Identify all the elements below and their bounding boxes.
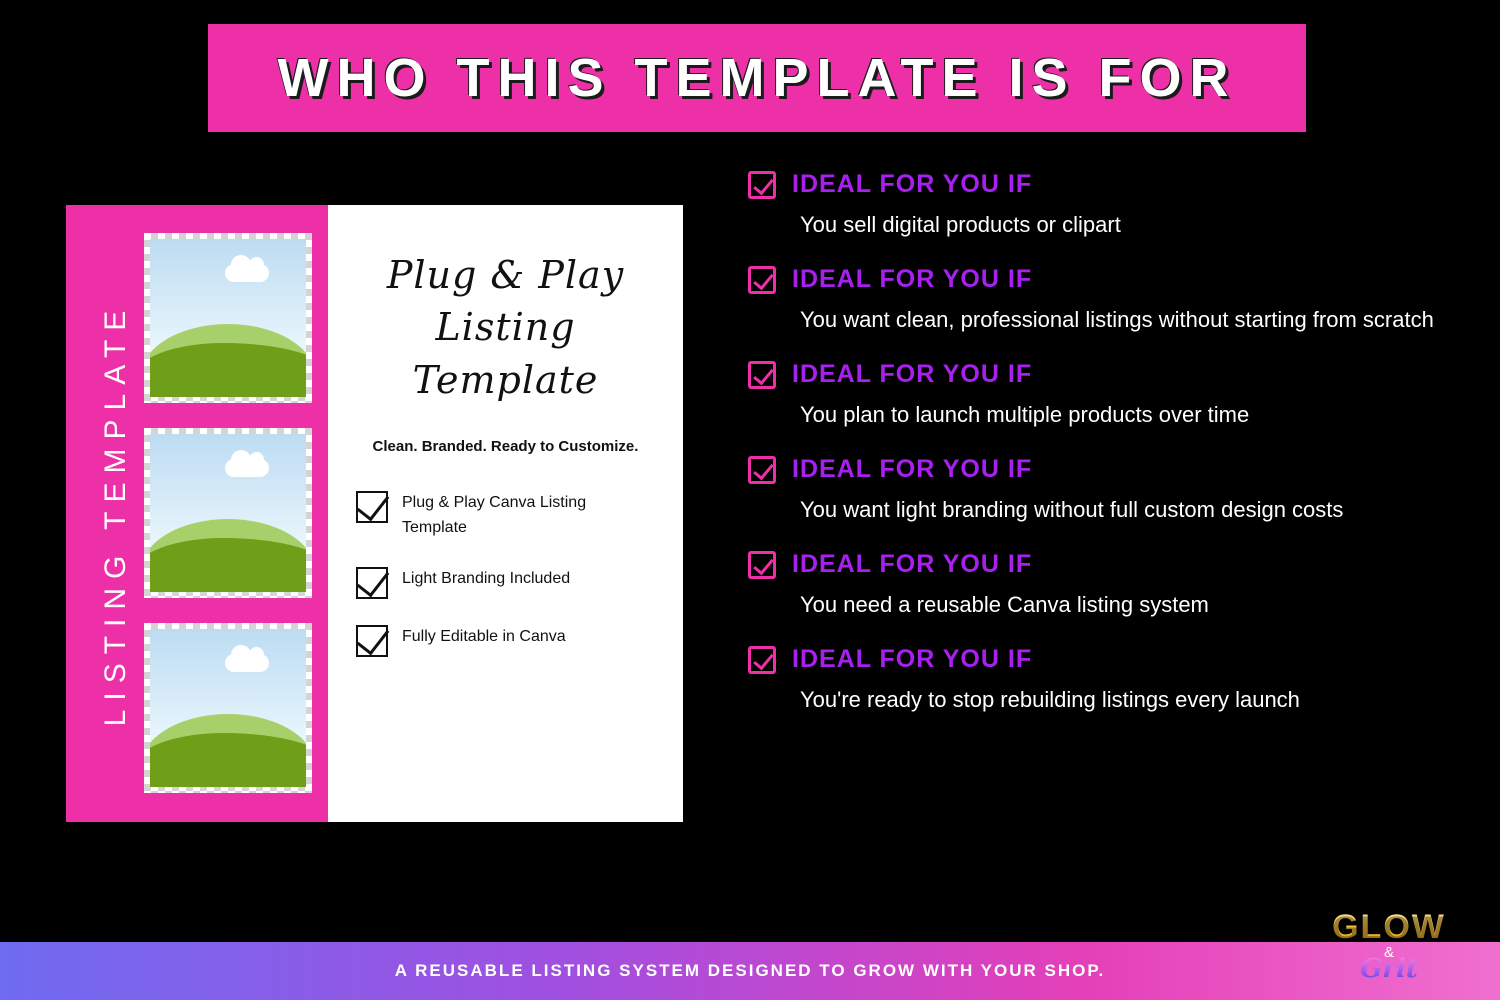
hill-front-shape <box>150 343 306 397</box>
logo-line-grit: Grit <box>1314 956 1464 982</box>
checkbox-check-icon <box>748 456 776 484</box>
list-item: IDEAL FOR YOU IF You plan to launch mult… <box>748 360 1448 431</box>
landscape-illustration <box>150 239 306 397</box>
landscape-illustration <box>150 434 306 592</box>
mockup-left-panel: LISTING TEMPLATE <box>66 205 328 822</box>
bullet-title: IDEAL FOR YOU IF <box>792 265 1032 294</box>
ideal-for-you-list: IDEAL FOR YOU IF You sell digital produc… <box>748 170 1448 740</box>
list-item: IDEAL FOR YOU IF You sell digital produc… <box>748 170 1448 241</box>
bullet-body: You sell digital products or clipart <box>800 208 1448 241</box>
list-item: Fully Editable in Canva <box>356 625 655 657</box>
page-title: WHO THIS TEMPLATE IS FOR <box>278 47 1237 109</box>
list-item: IDEAL FOR YOU IF You need a reusable Can… <box>748 550 1448 621</box>
mockup-right-panel: Plug & Play Listing Template Clean. Bran… <box>328 205 683 822</box>
hill-front-shape <box>150 538 306 592</box>
cloud-icon <box>225 459 269 477</box>
bullet-title: IDEAL FOR YOU IF <box>792 455 1032 484</box>
feature-label: Fully Editable in Canva <box>402 625 566 650</box>
bullet-body: You're ready to stop rebuilding listings… <box>800 683 1448 716</box>
checkbox-check-icon <box>748 171 776 199</box>
hill-front-shape <box>150 733 306 787</box>
footer-bar: A REUSABLE LISTING SYSTEM DESIGNED TO GR… <box>0 942 1500 1000</box>
thumbnail-image <box>144 233 312 403</box>
logo-line-glow: GLOW <box>1314 910 1464 944</box>
thumbnail-stack <box>144 233 312 793</box>
bullet-heading-row: IDEAL FOR YOU IF <box>748 455 1448 484</box>
bullet-title: IDEAL FOR YOU IF <box>792 170 1032 199</box>
cloud-icon <box>225 264 269 282</box>
mockup-feature-list: Plug & Play Canva Listing Template Light… <box>356 491 655 657</box>
brand-logo: GLOW & Grit <box>1314 910 1464 982</box>
list-item: IDEAL FOR YOU IF You're ready to stop re… <box>748 645 1448 716</box>
bullet-body: You need a reusable Canva listing system <box>800 588 1448 621</box>
bullet-title: IDEAL FOR YOU IF <box>792 550 1032 579</box>
checkmark-icon <box>356 625 388 657</box>
bullet-body: You plan to launch multiple products ove… <box>800 398 1448 431</box>
footer-text: A REUSABLE LISTING SYSTEM DESIGNED TO GR… <box>395 961 1105 981</box>
bullet-body: You want light branding without full cus… <box>800 493 1448 526</box>
mockup-script-title: Plug & Play Listing Template <box>356 249 655 406</box>
thumbnail-image <box>144 428 312 598</box>
checkbox-check-icon <box>748 266 776 294</box>
landscape-illustration <box>150 629 306 787</box>
bullet-heading-row: IDEAL FOR YOU IF <box>748 170 1448 199</box>
list-item: Plug & Play Canva Listing Template <box>356 491 655 541</box>
bullet-heading-row: IDEAL FOR YOU IF <box>748 360 1448 389</box>
vertical-listing-template-label: LISTING TEMPLATE <box>99 301 133 726</box>
checkmark-icon <box>356 567 388 599</box>
bullet-heading-row: IDEAL FOR YOU IF <box>748 550 1448 579</box>
checkbox-check-icon <box>748 551 776 579</box>
thumbnail-image <box>144 623 312 793</box>
cloud-icon <box>225 654 269 672</box>
poster-canvas: WHO THIS TEMPLATE IS FOR LISTING TEMPLAT… <box>0 0 1500 1000</box>
product-mockup-card: LISTING TEMPLATE <box>66 205 683 822</box>
checkmark-icon <box>356 491 388 523</box>
list-item: IDEAL FOR YOU IF You want clean, profess… <box>748 265 1448 336</box>
checkbox-check-icon <box>748 361 776 389</box>
list-item: IDEAL FOR YOU IF You want light branding… <box>748 455 1448 526</box>
feature-label: Light Branding Included <box>402 567 570 592</box>
bullet-heading-row: IDEAL FOR YOU IF <box>748 265 1448 294</box>
mockup-tagline: Clean. Branded. Ready to Customize. <box>356 438 655 455</box>
bullet-heading-row: IDEAL FOR YOU IF <box>748 645 1448 674</box>
list-item: Light Branding Included <box>356 567 655 599</box>
title-banner: WHO THIS TEMPLATE IS FOR <box>208 24 1306 132</box>
bullet-body: You want clean, professional listings wi… <box>800 303 1448 336</box>
feature-label: Plug & Play Canva Listing Template <box>402 491 632 541</box>
checkbox-check-icon <box>748 646 776 674</box>
bullet-title: IDEAL FOR YOU IF <box>792 645 1032 674</box>
bullet-title: IDEAL FOR YOU IF <box>792 360 1032 389</box>
